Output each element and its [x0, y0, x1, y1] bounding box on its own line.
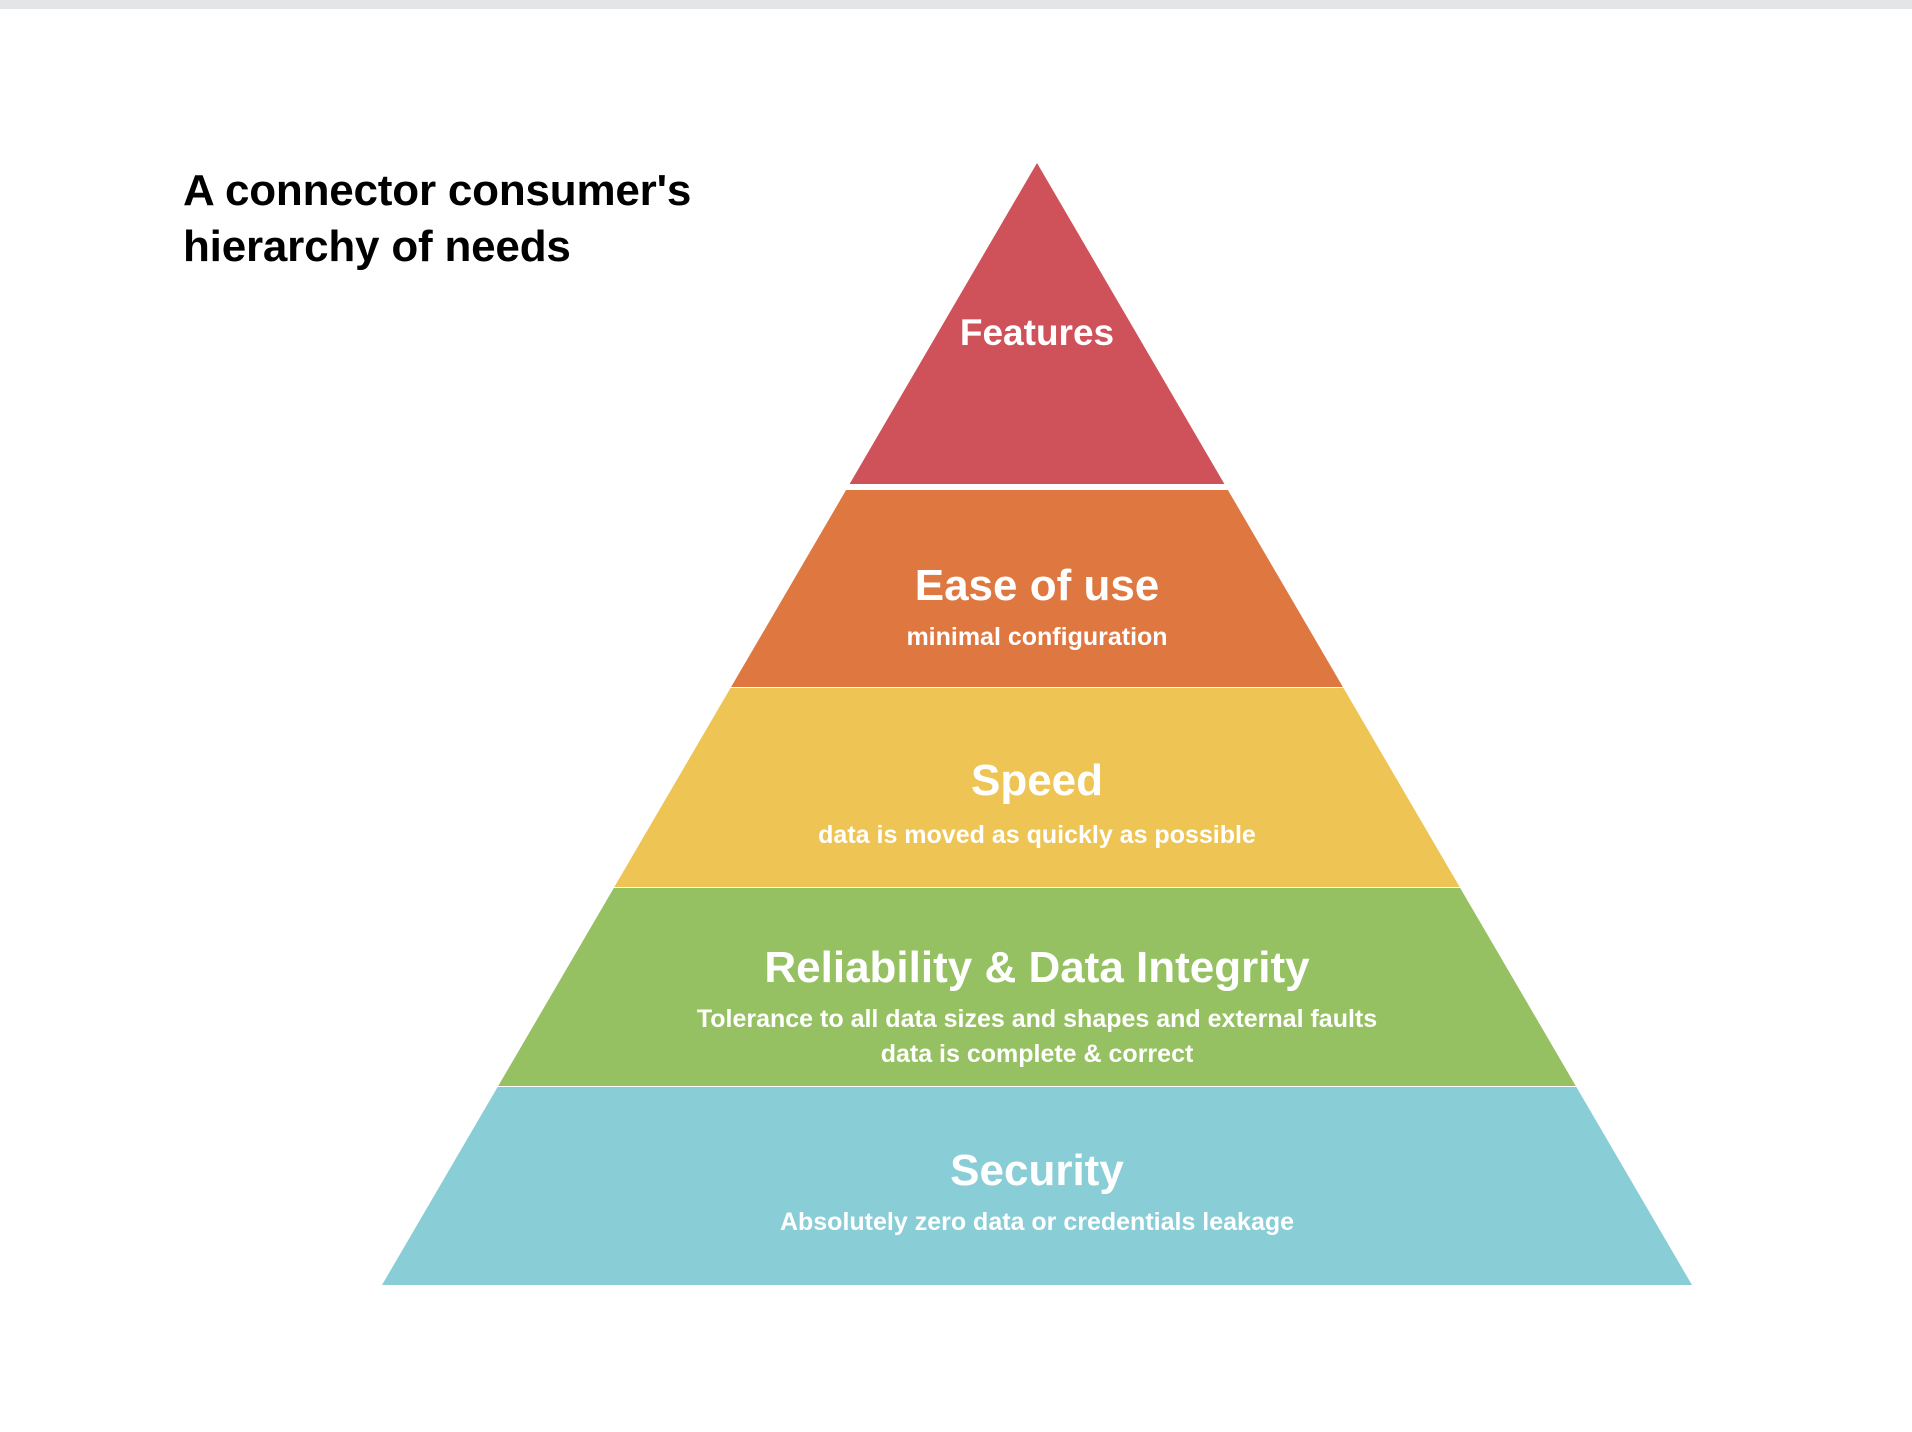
- tier-ease-of-use-subtitle: minimal configuration: [906, 623, 1167, 651]
- tier-ease-of-use-title: Ease of use: [915, 561, 1160, 610]
- tier-speed-subtitle: data is moved as quickly as possible: [818, 821, 1256, 849]
- tier-security-title: Security: [950, 1146, 1124, 1195]
- tier-speed-title: Speed: [971, 756, 1103, 805]
- tier-reliability-data-integrity-subtitle-2: data is complete & correct: [881, 1040, 1194, 1068]
- hierarchy-pyramid: FeaturesEase of useminimal configuration…: [0, 0, 1912, 1423]
- tier-security-subtitle: Absolutely zero data or credentials leak…: [780, 1208, 1294, 1236]
- tier-reliability-data-integrity-title: Reliability & Data Integrity: [764, 943, 1310, 992]
- tier-features-title: Features: [960, 312, 1114, 353]
- tier-reliability-data-integrity-subtitle: Tolerance to all data sizes and shapes a…: [697, 1005, 1377, 1033]
